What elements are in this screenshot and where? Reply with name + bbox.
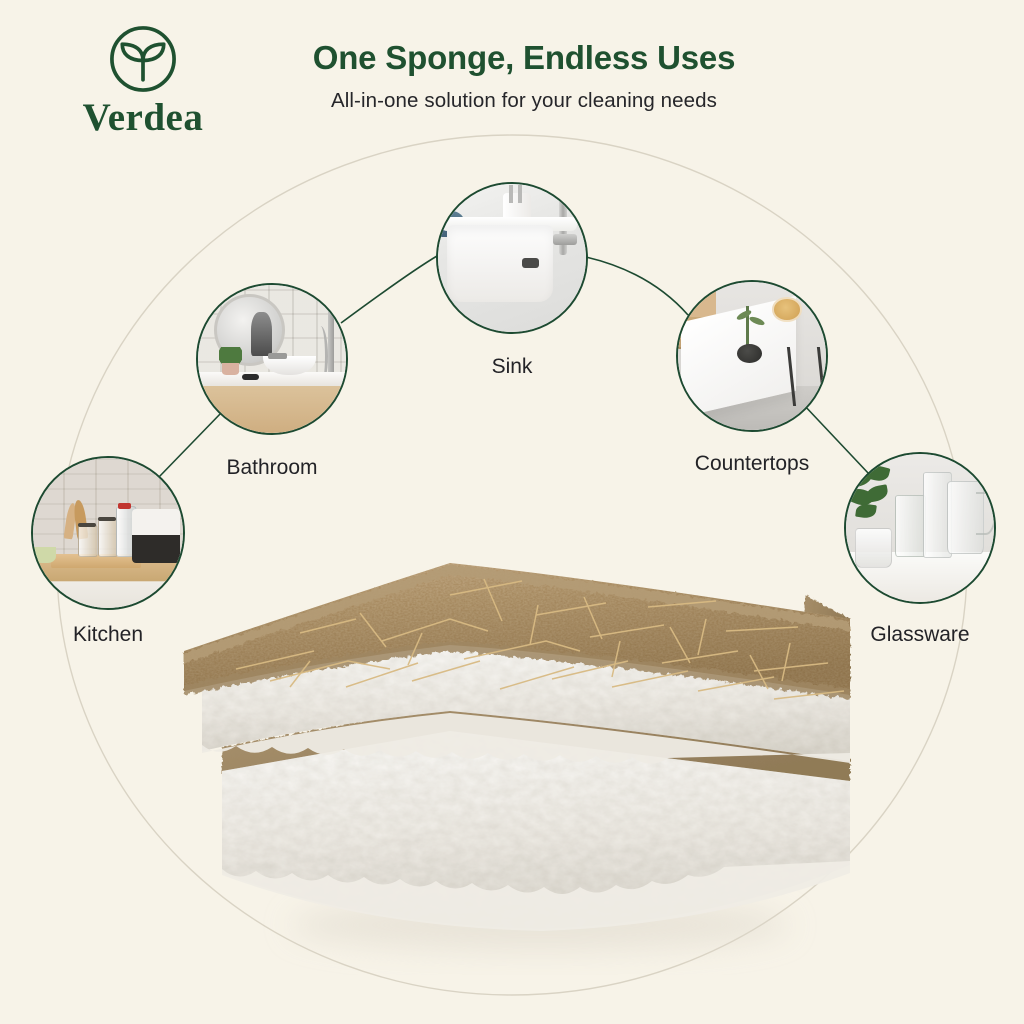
brand-lockup: Verdea (48, 22, 238, 139)
header-block: One Sponge, Endless Uses All-in-one solu… (232, 40, 816, 113)
white-sink-photo (438, 184, 586, 332)
bathroom-vanity-photo (198, 285, 346, 433)
marble-countertop-photo (678, 282, 826, 430)
countertops-photo-circle[interactable] (676, 280, 828, 432)
sink-photo-circle[interactable] (436, 182, 588, 334)
sink-label: Sink (382, 355, 642, 379)
sponge-illustration (150, 455, 874, 975)
leaf-sprout-circle-icon (106, 22, 180, 96)
bathroom-photo-circle[interactable] (196, 283, 348, 435)
page-subtitle: All-in-one solution for your cleaning ne… (232, 89, 816, 113)
page-title: One Sponge, Endless Uses (232, 40, 816, 77)
poster-canvas: Verdea One Sponge, Endless Uses All-in-o… (0, 0, 1024, 1024)
brand-name: Verdea (48, 98, 238, 139)
dual-layer-scrub-sponge-photo (150, 455, 874, 975)
